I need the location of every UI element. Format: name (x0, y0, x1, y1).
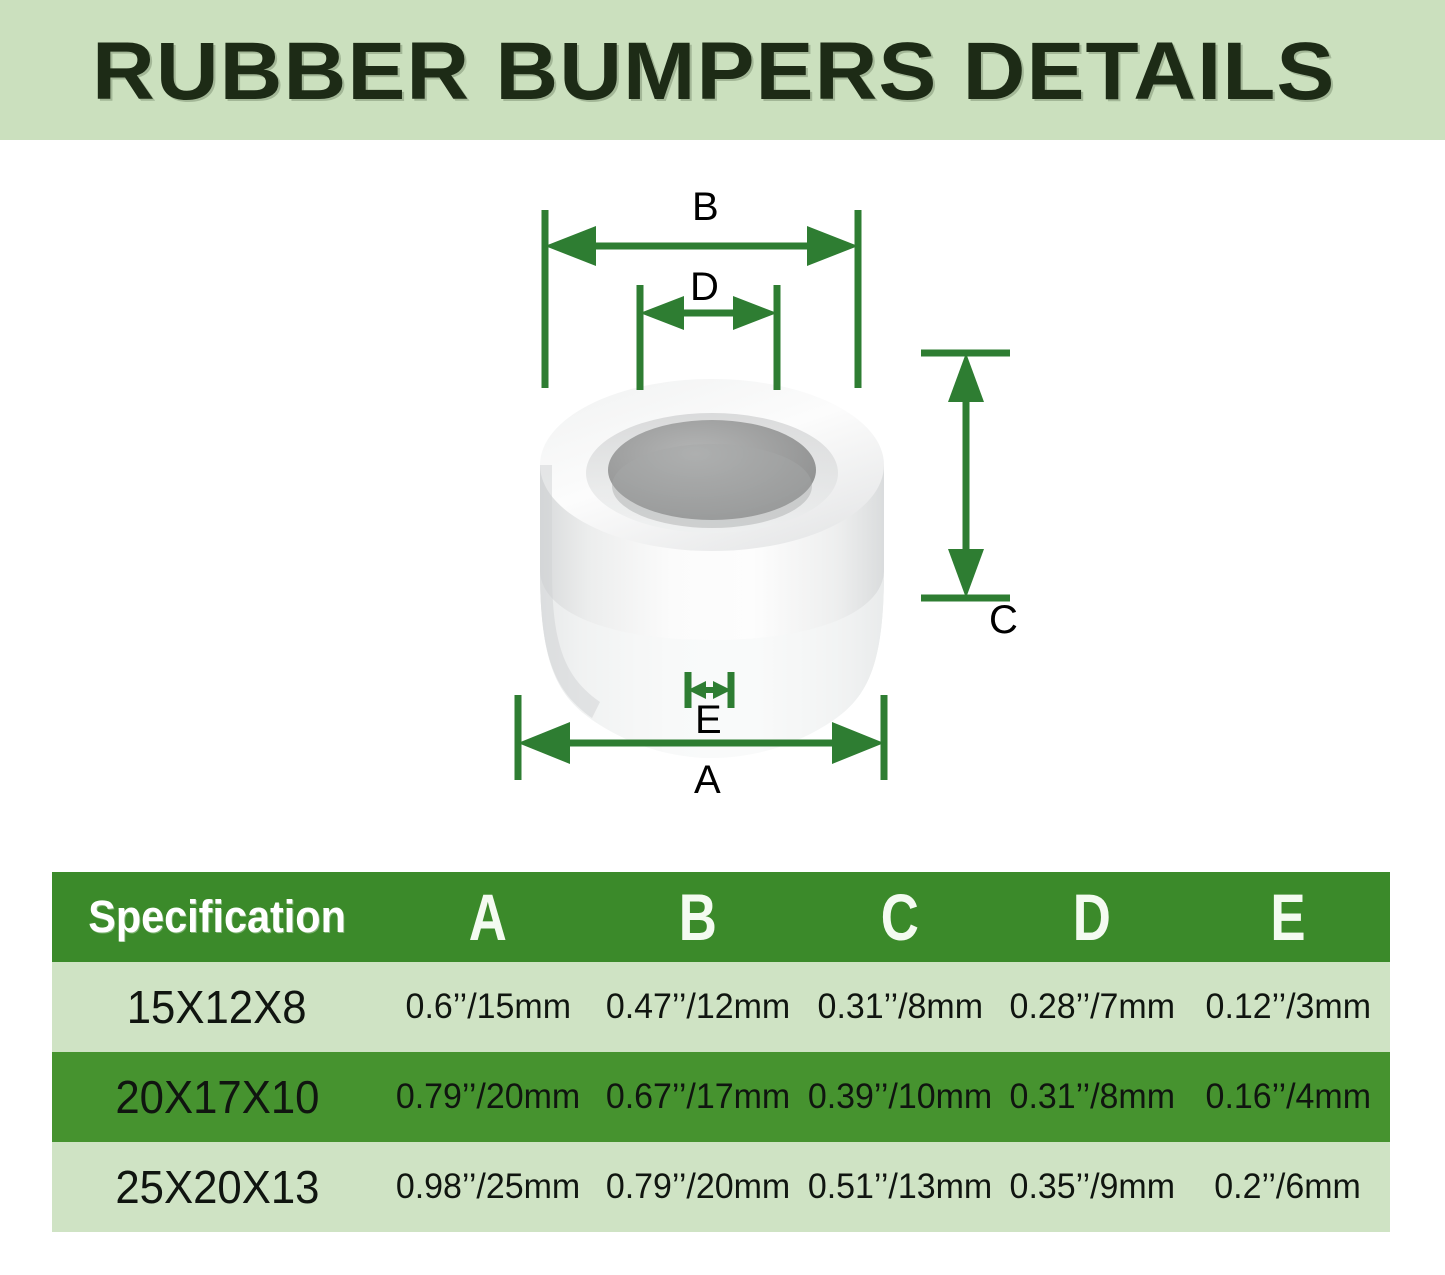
column-header-c-label: C (881, 879, 919, 955)
cell-e: 0.12’’/3mm (1186, 962, 1390, 1052)
column-header-specification: Specification (52, 872, 382, 962)
cell-c: 0.51’’/13mm (802, 1142, 998, 1232)
cell-e: 0.16’’/4mm (1186, 1052, 1390, 1142)
cell-c-value: 0.31’’/8mm (817, 987, 982, 1027)
cell-specification-value: 15X12X8 (127, 980, 307, 1034)
cell-e-value: 0.16’’/4mm (1205, 1077, 1370, 1117)
cell-specification: 25X20X13 (52, 1142, 382, 1232)
column-header-specification-label: Specification (88, 891, 346, 943)
column-header-d-label: D (1073, 879, 1111, 955)
table-row: 25X20X13 0.98’’/25mm 0.79’’/20mm 0.51’’/… (52, 1142, 1390, 1232)
cell-d: 0.31’’/8mm (998, 1052, 1186, 1142)
cell-d: 0.35’’/9mm (998, 1142, 1186, 1232)
column-header-c: C (802, 872, 998, 962)
cell-d: 0.28’’/7mm (998, 962, 1186, 1052)
header-banner: RUBBER BUMPERS DETAILS (0, 0, 1445, 140)
column-header-b-label: B (679, 879, 717, 955)
page-title: RUBBER BUMPERS DETAILS (92, 24, 1445, 120)
dimension-label-d: D (690, 267, 719, 307)
cell-e-value: 0.2’’/6mm (1215, 1167, 1362, 1207)
cell-specification: 15X12X8 (52, 962, 382, 1052)
column-header-e: E (1186, 872, 1390, 962)
cell-b-value: 0.79’’/20mm (606, 1167, 790, 1207)
cell-a-value: 0.98’’/25mm (396, 1167, 580, 1207)
cell-b: 0.79’’/20mm (594, 1142, 802, 1232)
cell-e: 0.2’’/6mm (1186, 1142, 1390, 1232)
cell-c-value: 0.51’’/13mm (808, 1167, 992, 1207)
cell-b: 0.47’’/12mm (594, 962, 802, 1052)
cell-c: 0.31’’/8mm (802, 962, 998, 1052)
cell-b-value: 0.47’’/12mm (606, 987, 790, 1027)
cell-c-value: 0.39’’/10mm (808, 1077, 992, 1117)
diagram-svg (0, 140, 1445, 860)
cell-b: 0.67’’/17mm (594, 1052, 802, 1142)
cell-a: 0.79’’/20mm (382, 1052, 594, 1142)
dimension-label-e: E (695, 700, 722, 740)
cell-a: 0.98’’/25mm (382, 1142, 594, 1232)
specification-table: Specification A B C D E 15X12X8 0.6 (52, 872, 1390, 1232)
product-dimension-diagram: B D C E A (0, 140, 1445, 860)
cell-d-value: 0.31’’/8mm (1009, 1077, 1174, 1117)
cell-a-value: 0.79’’/20mm (396, 1077, 580, 1117)
table-header-row: Specification A B C D E (52, 872, 1390, 962)
cell-d-value: 0.35’’/9mm (1009, 1167, 1174, 1207)
cell-specification-value: 20X17X10 (115, 1070, 319, 1124)
dimension-label-a: A (694, 760, 721, 800)
column-header-d: D (998, 872, 1186, 962)
table-row: 15X12X8 0.6’’/15mm 0.47’’/12mm 0.31’’/8m… (52, 962, 1390, 1052)
dimension-label-c: C (989, 600, 1018, 640)
table-row: 20X17X10 0.79’’/20mm 0.67’’/17mm 0.39’’/… (52, 1052, 1390, 1142)
column-header-a-label: A (469, 879, 507, 955)
column-header-e-label: E (1270, 879, 1305, 955)
dimension-c (921, 353, 1010, 598)
dimension-label-b: B (692, 187, 719, 227)
cell-d-value: 0.28’’/7mm (1009, 987, 1174, 1027)
cell-specification-value: 25X20X13 (115, 1160, 319, 1214)
cell-c: 0.39’’/10mm (802, 1052, 998, 1142)
cell-b-value: 0.67’’/17mm (606, 1077, 790, 1117)
cell-e-value: 0.12’’/3mm (1205, 987, 1370, 1027)
cell-a-value: 0.6’’/15mm (405, 987, 570, 1027)
cell-a: 0.6’’/15mm (382, 962, 594, 1052)
cell-specification: 20X17X10 (52, 1052, 382, 1142)
column-header-b: B (594, 872, 802, 962)
column-header-a: A (382, 872, 594, 962)
